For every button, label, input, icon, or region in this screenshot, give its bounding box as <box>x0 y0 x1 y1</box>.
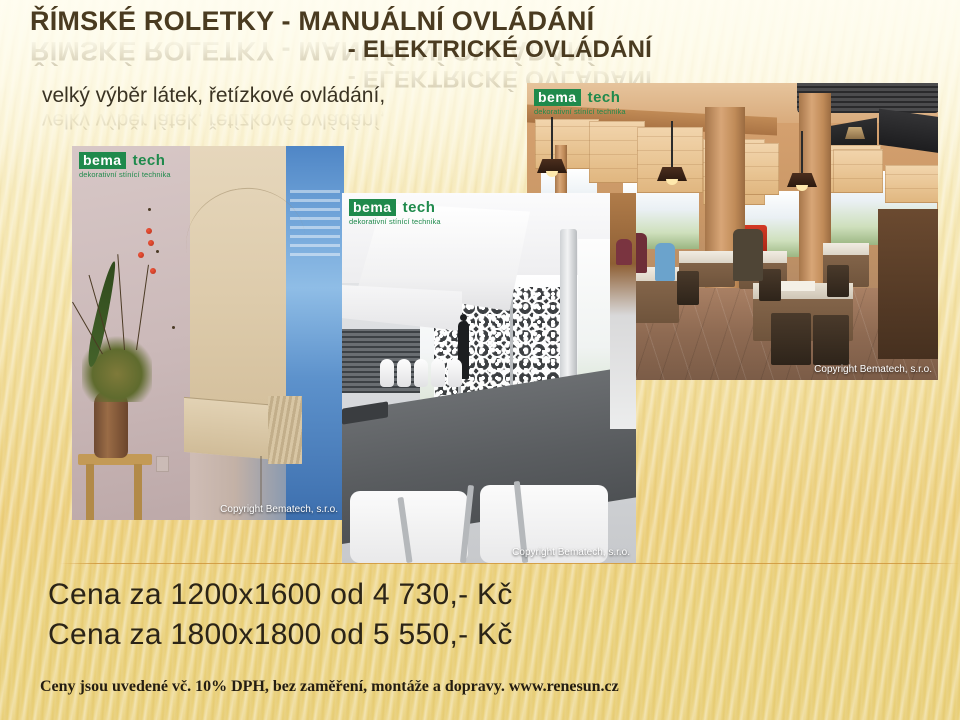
copyright-label: Copyright Bematech, s.r.o. <box>512 547 630 558</box>
chair-foreground-1 <box>771 313 811 365</box>
white-vase <box>431 359 445 387</box>
page-title-line-2: - ELEKTRICKÉ OVLÁDÁNÍ <box>0 36 960 64</box>
price-line-1800x1800: Cena za 1800x1800 od 5 550,- Kč <box>48 618 513 652</box>
roman-blind-fabric <box>190 146 286 404</box>
logo-tagline: dekorativní stínící technika <box>79 171 171 179</box>
page-title-line-1: ŘÍMSKÉ ROLETKY - MANUÁLNÍ OVLÁDÁNÍ <box>0 6 960 36</box>
white-vase <box>448 359 462 387</box>
wall-socket <box>156 456 169 472</box>
title-block: ŘÍMSKÉ ROLETKY - MANUÁLNÍ OVLÁDÁNÍ ŘÍMSK… <box>0 6 960 92</box>
logo-mark: bema <box>349 199 396 216</box>
pendant-lamp-cord-2 <box>671 121 673 167</box>
white-vase <box>414 359 428 387</box>
logo-mark: bema <box>79 152 126 169</box>
logo-wordmark: tech <box>403 200 436 215</box>
horizontal-divider <box>60 563 960 564</box>
twig-node-3 <box>172 326 175 329</box>
chair-3 <box>827 265 849 297</box>
napkin-holder <box>779 281 815 291</box>
logo-tagline: dekorativní stínící technika <box>534 108 626 116</box>
footer-note: Ceny jsou uvedené vč. 10% DPH, bez zaměř… <box>40 678 619 696</box>
photo-roman-blind-flowers[interactable]: bema tech dekorativní stínící technika C… <box>72 146 344 520</box>
roman-blind-8 <box>885 165 938 203</box>
tablecloth-4 <box>823 243 869 255</box>
red-berry-4 <box>150 268 156 274</box>
logo-row: bema tech <box>79 152 171 169</box>
copyright-label: Copyright Bematech, s.r.o. <box>220 504 338 515</box>
blind-pull-cord <box>260 456 262 510</box>
pendant-lamp-cord-1 <box>551 117 553 159</box>
chair-foreground-2 <box>813 315 849 365</box>
wooden-stool <box>78 454 152 520</box>
tablecloth-2 <box>679 251 735 263</box>
twig-node-2 <box>156 250 159 253</box>
extractor-hood-right <box>879 109 938 154</box>
logo-tagline: dekorativní stínící technika <box>349 218 441 226</box>
bema-tech-logo: bema tech dekorativní stínící technika <box>79 152 171 179</box>
logo-wordmark: tech <box>588 90 621 105</box>
white-vase-group <box>380 359 464 387</box>
logo-row: bema tech <box>534 89 626 106</box>
subtitle-reflection: velký výběr látek, řetízkové ovládání, <box>42 108 385 132</box>
bema-tech-logo: bema tech dekorativní stínící technika <box>349 199 441 226</box>
logo-mark: bema <box>534 89 581 106</box>
subtitle: velký výběr látek, řetízkové ovládání, <box>42 84 385 108</box>
pendant-lamp-cord-3 <box>801 131 803 173</box>
red-berry-1 <box>146 228 152 234</box>
guest-2 <box>655 243 675 281</box>
presentation-slide: ŘÍMSKÉ ROLETKY - MANUÁLNÍ OVLÁDÁNÍ ŘÍMSK… <box>0 0 960 720</box>
roman-blind-pleats <box>268 396 302 464</box>
twig-node-1 <box>148 208 151 211</box>
copyright-label: Copyright Bematech, s.r.o. <box>814 364 932 375</box>
guest-3 <box>733 229 763 281</box>
red-berry-3 <box>138 252 144 258</box>
white-lampshade-small <box>342 285 462 331</box>
red-berry-2 <box>148 240 154 246</box>
seated-person <box>616 239 632 265</box>
right-edge-strip <box>610 193 636 429</box>
stool-leg-left <box>86 464 94 520</box>
chair-1 <box>677 271 699 305</box>
stool-leg-right <box>134 464 142 520</box>
roman-blind-7 <box>833 149 883 193</box>
logo-wordmark: tech <box>133 153 166 168</box>
logo-row: bema tech <box>349 199 441 216</box>
white-vase <box>397 359 411 387</box>
white-vase <box>380 359 394 387</box>
bar-counter <box>878 209 938 359</box>
photo-modern-interior[interactable]: bema tech dekorativní stínící technika C… <box>342 193 636 563</box>
price-line-1200x1600: Cena za 1200x1600 od 4 730,- Kč <box>48 578 513 612</box>
bema-tech-logo: bema tech dekorativní stínící technika <box>534 89 626 116</box>
